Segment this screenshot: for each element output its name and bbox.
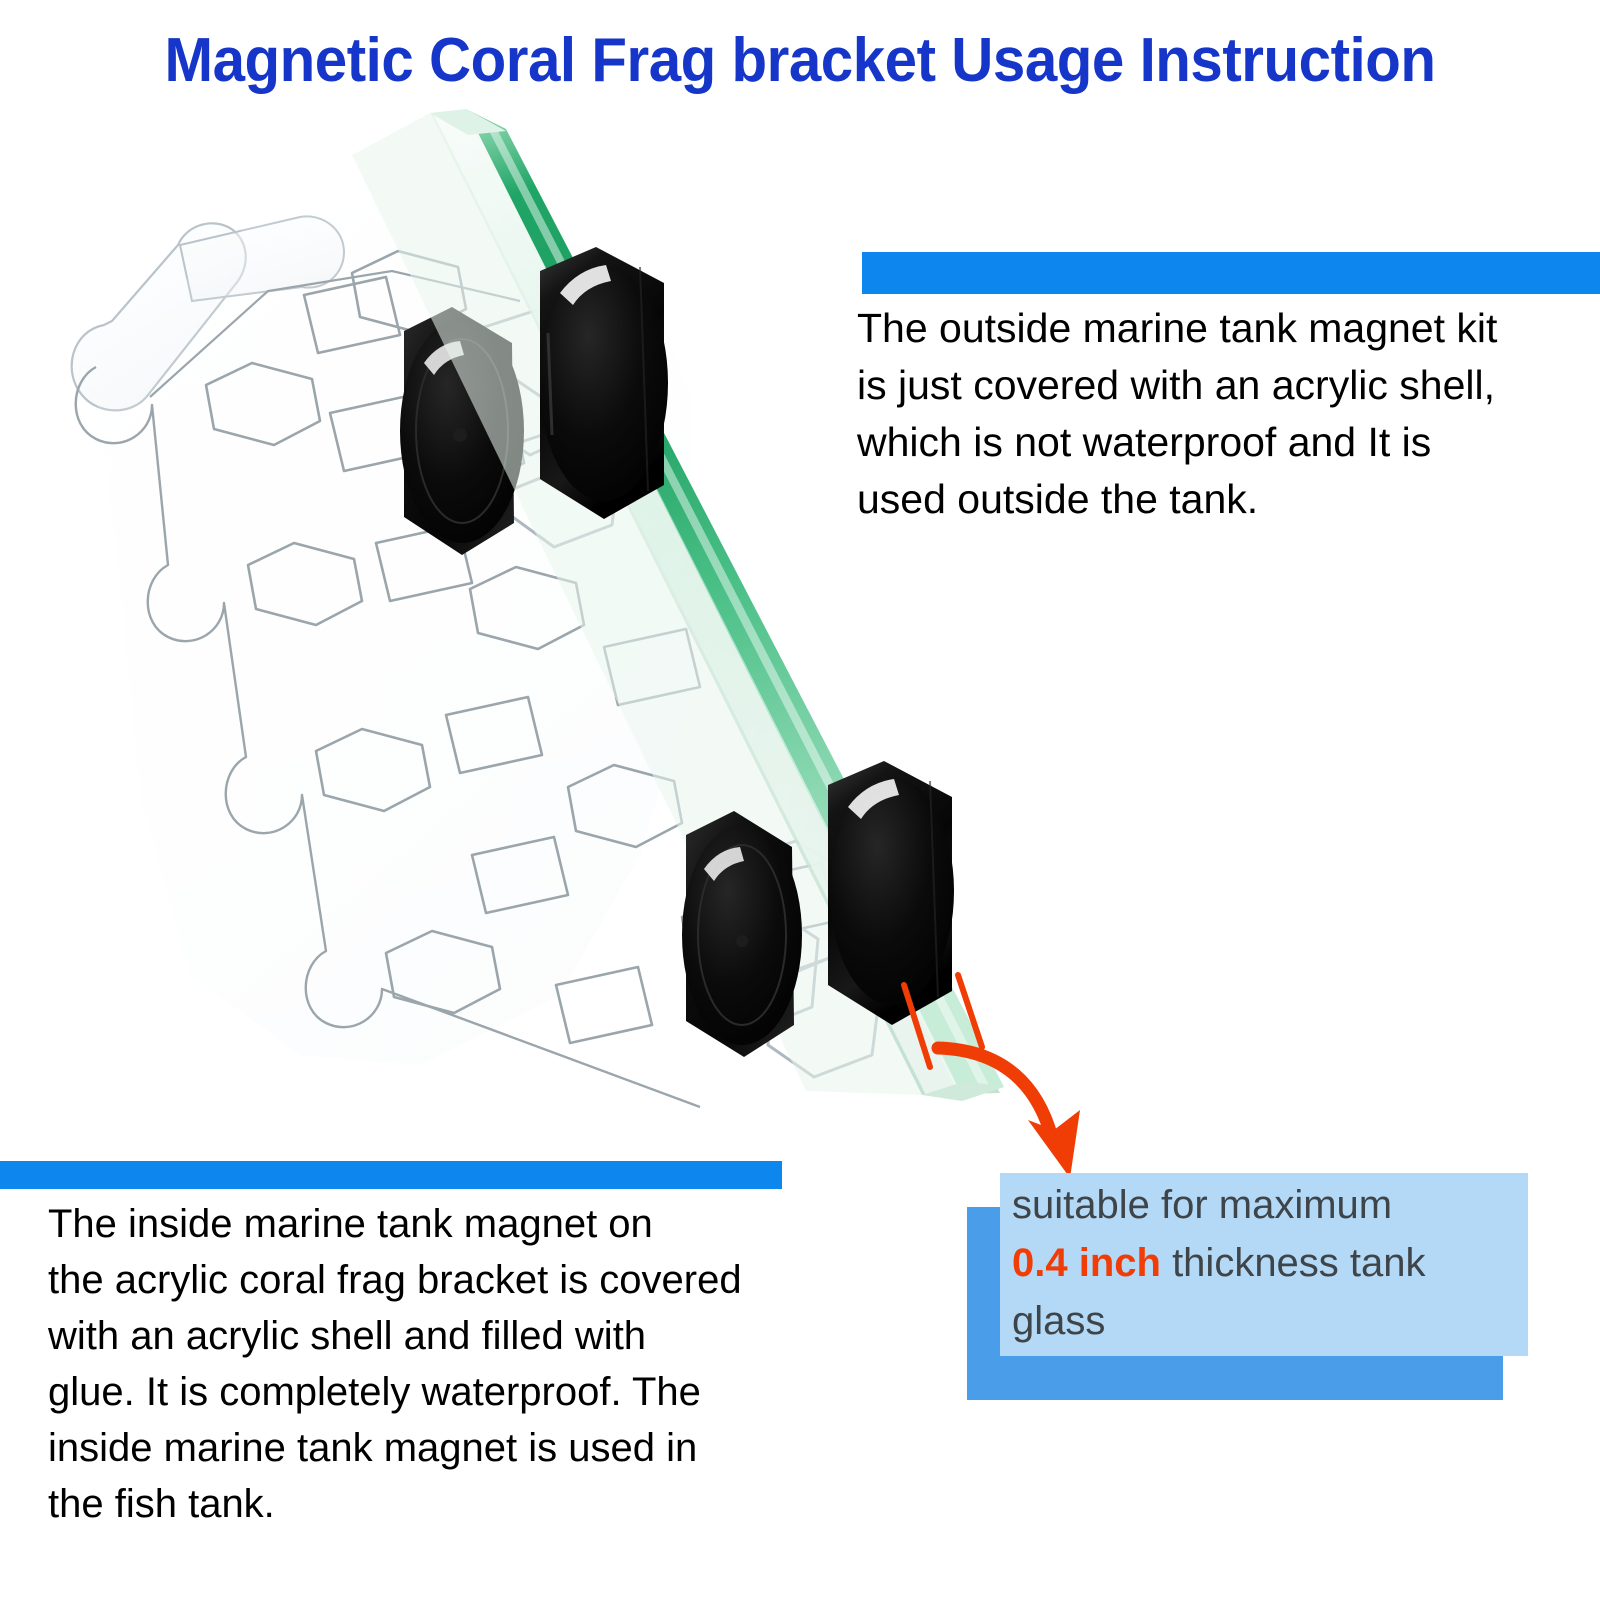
magnet-lower-outer [828, 761, 954, 1025]
magnet-lower-inner [682, 811, 802, 1057]
magnet-upper-outer [540, 247, 668, 519]
callout-arrow [930, 1000, 1150, 1190]
accent-bar-bottom-left [0, 1161, 782, 1189]
page-title: Magnetic Coral Frag bracket Usage Instru… [48, 28, 1552, 94]
callout-line-2: 0.4 inch thickness tank [1012, 1234, 1532, 1292]
inside-line-2: the acrylic coral frag bracket is covere… [48, 1252, 758, 1308]
outside-line-1: The outside marine tank magnet kit [857, 300, 1547, 357]
inside-line-3: with an acrylic shell and filled with [48, 1308, 758, 1364]
outside-magnet-paragraph: The outside marine tank magnet kit is ju… [857, 300, 1547, 528]
inside-line-4: glue. It is completely waterproof. The [48, 1364, 758, 1420]
callout-line-1: suitable for maximum [1012, 1176, 1532, 1234]
inside-line-1: The inside marine tank magnet on [48, 1196, 758, 1252]
inside-magnet-paragraph: The inside marine tank magnet on the acr… [48, 1196, 758, 1532]
inside-line-6: the fish tank. [48, 1476, 758, 1532]
accent-bar-top-right [862, 252, 1600, 294]
callout-text: suitable for maximum 0.4 inch thickness … [1012, 1176, 1532, 1350]
callout-line-2-rest: thickness tank [1161, 1241, 1426, 1285]
outside-line-4: used outside the tank. [857, 471, 1547, 528]
product-illustration [0, 95, 1120, 1125]
callout-line-3: glass [1012, 1292, 1532, 1350]
outside-line-3: which is not waterproof and It is [857, 414, 1547, 471]
outside-line-2: is just covered with an acrylic shell, [857, 357, 1547, 414]
callout-highlight: 0.4 inch [1012, 1241, 1161, 1285]
inside-line-5: inside marine tank magnet is used in [48, 1420, 758, 1476]
